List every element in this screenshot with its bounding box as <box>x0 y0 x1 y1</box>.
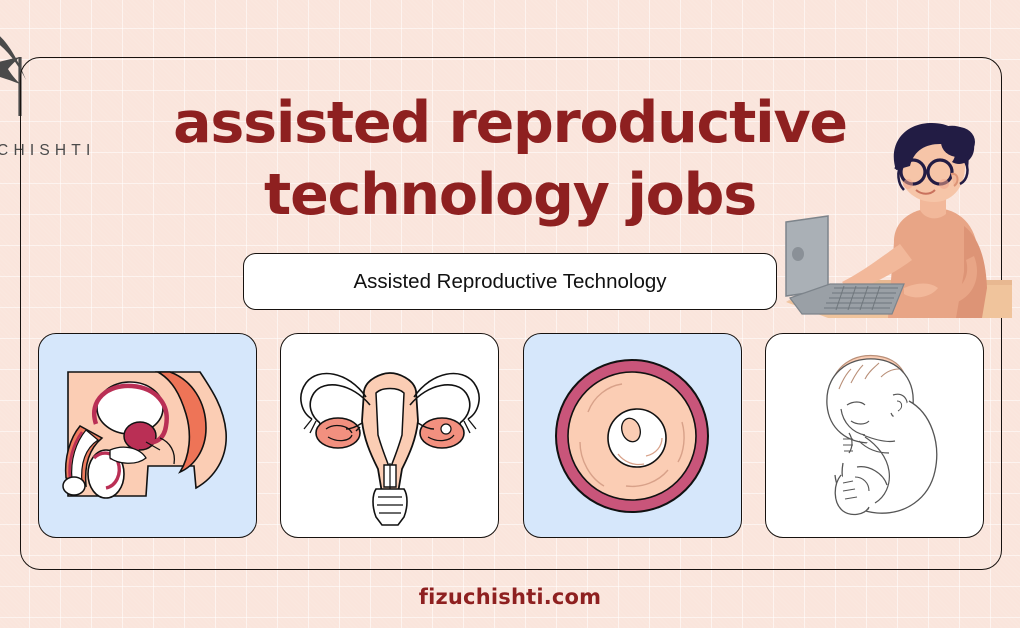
footer-website[interactable]: fizuchishti.com <box>0 585 1020 609</box>
website-url: fizuchishti.com <box>419 585 602 609</box>
blush-left <box>903 179 913 189</box>
hair-bun-knot <box>941 127 975 157</box>
fetus-icon <box>781 343 967 529</box>
woman-at-laptop-illustration <box>768 122 1012 337</box>
subtitle-badge: Assisted Reproductive Technology <box>243 253 777 310</box>
blush-right <box>939 179 949 189</box>
subtitle-label: Assisted Reproductive Technology <box>354 270 667 294</box>
image-card-strip <box>38 333 984 538</box>
laptop-logo <box>792 247 804 261</box>
ovum-cell-card[interactable] <box>523 333 742 538</box>
female-reproductive-anatomy-card[interactable] <box>280 333 499 538</box>
fetus-card[interactable] <box>765 333 984 538</box>
male-reproductive-system-icon <box>48 346 248 526</box>
uterus-ovaries-icon <box>290 343 490 529</box>
male-reproductive-anatomy-card[interactable] <box>38 333 257 538</box>
egg-cell-icon <box>542 346 722 526</box>
